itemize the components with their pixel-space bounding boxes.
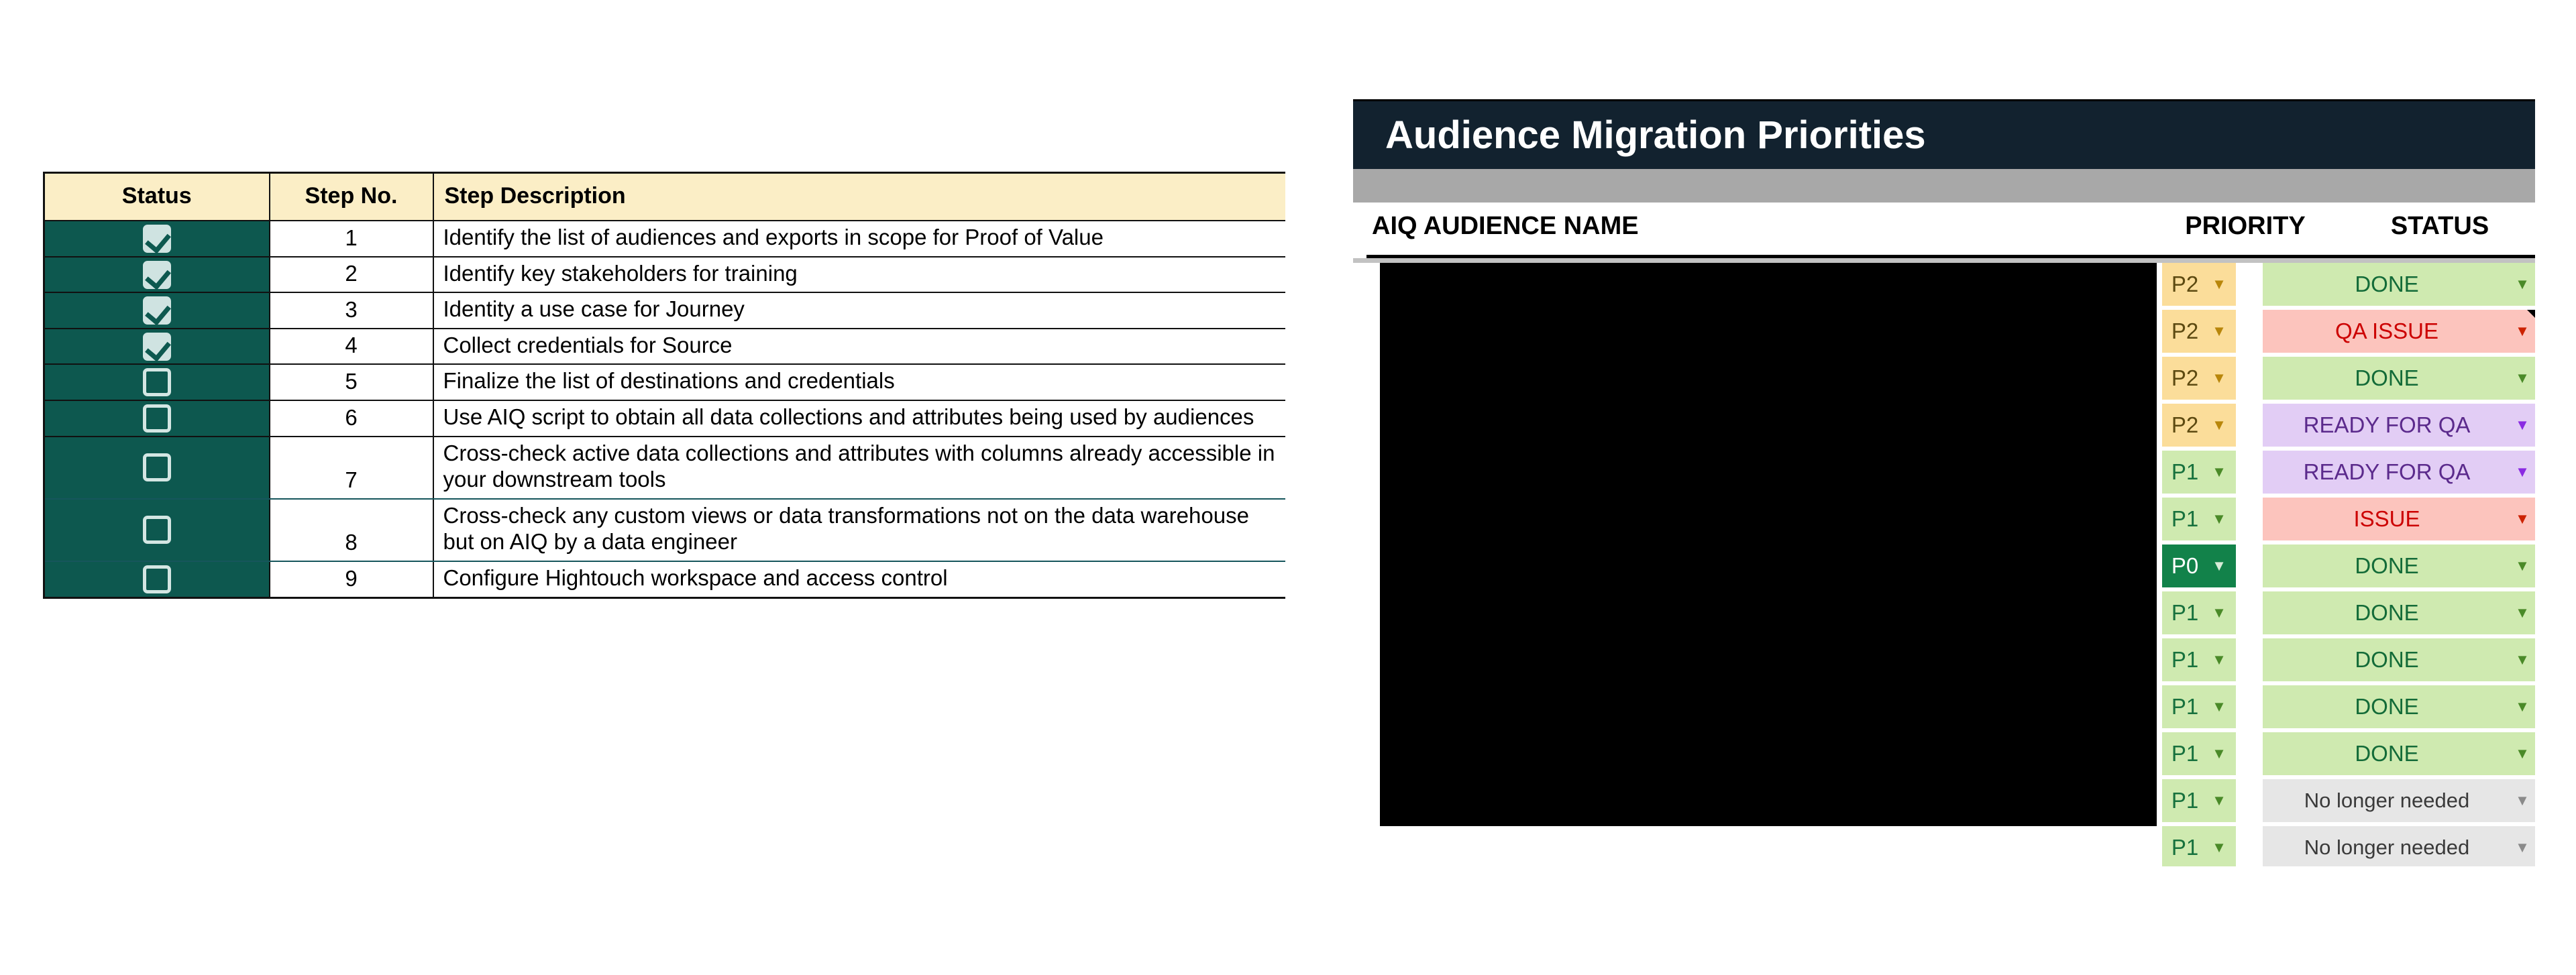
checklist-status-cell[interactable] (44, 499, 270, 561)
status-value: ISSUE (2263, 506, 2511, 532)
audience-name-redacted (1380, 826, 2157, 866)
status-dropdown-cell[interactable]: DONE (2263, 591, 2535, 634)
status-value: READY FOR QA (2263, 459, 2511, 485)
priority-dropdown-cell[interactable]: P2 (2162, 263, 2236, 306)
audience-name-redacted (1380, 591, 2157, 638)
audience-name-redacted (1380, 357, 2157, 404)
table-row: 4Collect credentials for Source (44, 329, 1286, 365)
chevron-down-icon[interactable] (2208, 324, 2231, 339)
migration-checklist-table: Status Step No. Step Description 1Identi… (43, 172, 1285, 599)
status-dropdown-cell[interactable]: READY FOR QA (2263, 451, 2535, 494)
priority-value: P1 (2162, 647, 2208, 673)
audience-name-redacted (1380, 544, 2157, 591)
chevron-down-icon[interactable] (2208, 699, 2231, 714)
chevron-down-icon[interactable] (2208, 277, 2231, 292)
checklist-status-cell[interactable] (44, 400, 270, 437)
checklist-header-row: Status Step No. Step Description (44, 173, 1286, 221)
status-value: No longer needed (2263, 789, 2511, 813)
checklist-step-description: Cross-check any custom views or data tra… (433, 499, 1286, 561)
column-header-status: Status (44, 173, 270, 221)
checklist-step-description: Identify key stakeholders for training (433, 257, 1286, 293)
checklist-status-cell[interactable] (44, 257, 270, 293)
checklist-step-number: 8 (270, 499, 433, 561)
checklist-step-number: 4 (270, 329, 433, 365)
cell-comment-marker-icon[interactable] (2527, 310, 2535, 322)
chevron-down-icon[interactable] (2511, 512, 2534, 526)
priority-value: P1 (2162, 506, 2208, 532)
checklist-step-number: 9 (270, 561, 433, 597)
checkbox-unchecked-icon[interactable] (143, 516, 171, 544)
status-value: DONE (2263, 272, 2511, 297)
chevron-down-icon[interactable] (2208, 606, 2231, 620)
status-value: DONE (2263, 600, 2511, 626)
checklist-status-cell[interactable] (44, 221, 270, 257)
checklist-step-description: Use AIQ script to obtain all data collec… (433, 400, 1286, 437)
priority-value: P2 (2162, 412, 2208, 438)
priority-dropdown-cell[interactable]: P0 (2162, 544, 2236, 587)
checklist-status-cell[interactable] (44, 437, 270, 499)
status-value: DONE (2263, 647, 2511, 673)
checkbox-unchecked-icon[interactable] (143, 368, 171, 396)
chevron-down-icon[interactable] (2208, 746, 2231, 761)
priority-table-row: P0DONE (1353, 544, 2535, 591)
checklist-step-description: Configure Hightouch workspace and access… (433, 561, 1286, 597)
checklist-step-number: 6 (270, 400, 433, 437)
status-dropdown-cell[interactable]: ISSUE (2263, 498, 2535, 540)
chevron-down-icon[interactable] (2208, 465, 2231, 479)
checklist-step-description: Cross-check active data collections and … (433, 437, 1286, 499)
chevron-down-icon[interactable] (2511, 840, 2534, 855)
status-value: READY FOR QA (2263, 412, 2511, 438)
chevron-down-icon[interactable] (2208, 512, 2231, 526)
priorities-column-header-row: AIQ AUDIENCE NAME PRIORITY STATUS (1353, 203, 2535, 255)
checkbox-checked-icon[interactable] (143, 261, 171, 289)
priority-table-row: P2READY FOR QA (1353, 404, 2535, 451)
chevron-down-icon[interactable] (2511, 746, 2534, 761)
priority-value: P1 (2162, 788, 2208, 813)
column-header-step-description: Step Description (433, 173, 1286, 221)
chevron-down-icon[interactable] (2511, 324, 2534, 339)
audience-name-redacted (1380, 310, 2157, 357)
status-dropdown-cell[interactable]: No longer needed (2263, 826, 2535, 866)
table-row: 9Configure Hightouch workspace and acces… (44, 561, 1286, 597)
priority-table-row: P2DONE (1353, 357, 2535, 404)
table-row: 1Identify the list of audiences and expo… (44, 221, 1286, 257)
audience-name-redacted (1380, 732, 2157, 779)
checkbox-checked-icon[interactable] (143, 296, 171, 325)
checklist-step-number: 2 (270, 257, 433, 293)
column-header-status: STATUS (2346, 212, 2534, 241)
chevron-down-icon[interactable] (2511, 465, 2534, 479)
column-header-priority: PRIORITY (2145, 212, 2346, 241)
priority-value: P1 (2162, 459, 2208, 485)
priority-value: P2 (2162, 319, 2208, 344)
checkbox-checked-icon[interactable] (143, 225, 171, 253)
checklist-status-cell[interactable] (44, 364, 270, 400)
priority-dropdown-cell[interactable]: P1 (2162, 732, 2236, 775)
chevron-down-icon[interactable] (2208, 793, 2231, 808)
checkbox-unchecked-icon[interactable] (143, 404, 171, 433)
priorities-grid: P2DONEP2QA ISSUEP2DONEP2READY FOR QAP1RE… (1353, 263, 2535, 866)
priority-table-row: P1No longer needed (1353, 779, 2535, 826)
audience-name-redacted (1380, 451, 2157, 498)
chevron-down-icon[interactable] (2511, 559, 2534, 573)
header-divider-gray (1353, 258, 2535, 263)
chevron-down-icon[interactable] (2511, 606, 2534, 620)
status-dropdown-cell[interactable]: DONE (2263, 263, 2535, 306)
status-value: QA ISSUE (2263, 319, 2511, 344)
status-value: DONE (2263, 741, 2511, 766)
audience-name-redacted (1380, 779, 2157, 826)
status-value: DONE (2263, 365, 2511, 391)
audience-migration-priorities-panel: Audience Migration Priorities AIQ AUDIEN… (1353, 99, 2535, 887)
audience-name-redacted (1380, 685, 2157, 732)
priority-dropdown-cell[interactable]: P1 (2162, 685, 2236, 728)
priority-table-row: P2DONE (1353, 263, 2535, 310)
status-dropdown-cell[interactable]: No longer needed (2263, 779, 2535, 822)
chevron-down-icon[interactable] (2208, 652, 2231, 667)
priority-dropdown-cell[interactable]: P2 (2162, 357, 2236, 400)
checklist-step-number: 7 (270, 437, 433, 499)
audience-name-redacted (1380, 263, 2157, 310)
chevron-down-icon[interactable] (2208, 371, 2231, 386)
priority-dropdown-cell[interactable]: P1 (2162, 498, 2236, 540)
checklist-step-description: Finalize the list of destinations and cr… (433, 364, 1286, 400)
column-header-step-no: Step No. (270, 173, 433, 221)
checkbox-unchecked-icon[interactable] (143, 565, 171, 593)
checklist-status-cell[interactable] (44, 561, 270, 597)
priority-value: P0 (2162, 553, 2208, 579)
priority-value: P2 (2162, 272, 2208, 297)
chevron-down-icon[interactable] (2511, 277, 2534, 292)
checklist-step-number: 5 (270, 364, 433, 400)
checklist-step-description: Collect credentials for Source (433, 329, 1286, 365)
chevron-down-icon[interactable] (2208, 840, 2231, 855)
priority-dropdown-cell[interactable]: P1 (2162, 591, 2236, 634)
priority-table-row: P2QA ISSUE (1353, 310, 2535, 357)
priority-table-row: P1DONE (1353, 732, 2535, 779)
status-dropdown-cell[interactable]: DONE (2263, 544, 2535, 587)
checklist-step-description: Identify the list of audiences and expor… (433, 221, 1286, 257)
status-value: No longer needed (2263, 836, 2511, 860)
checkbox-checked-icon[interactable] (143, 333, 171, 361)
table-row: 3Identity a use case for Journey (44, 292, 1286, 329)
chevron-down-icon[interactable] (2208, 559, 2231, 573)
chevron-down-icon[interactable] (2511, 699, 2534, 714)
priority-table-row: P1No longer needed (1353, 826, 2535, 866)
priorities-title-bar: Audience Migration Priorities (1353, 99, 2535, 169)
status-value: DONE (2263, 694, 2511, 720)
column-header-aiq-audience-name: AIQ AUDIENCE NAME (1372, 212, 1639, 241)
priority-dropdown-cell[interactable]: P1 (2162, 451, 2236, 494)
chevron-down-icon[interactable] (2511, 371, 2534, 386)
audience-name-redacted (1380, 404, 2157, 451)
status-dropdown-cell[interactable]: READY FOR QA (2263, 404, 2535, 447)
checklist-step-number: 3 (270, 292, 433, 329)
priority-value: P1 (2162, 741, 2208, 766)
status-dropdown-cell[interactable]: QA ISSUE (2263, 310, 2535, 353)
priority-dropdown-cell[interactable]: P2 (2162, 404, 2236, 447)
priority-table-row: P1READY FOR QA (1353, 451, 2535, 498)
table-row: 2Identify key stakeholders for training (44, 257, 1286, 293)
table-row: 7Cross-check active data collections and… (44, 437, 1286, 499)
priority-value: P1 (2162, 694, 2208, 720)
chevron-down-icon[interactable] (2208, 418, 2231, 433)
status-dropdown-cell[interactable]: DONE (2263, 357, 2535, 400)
priority-table-row: P1DONE (1353, 638, 2535, 685)
priority-value: P2 (2162, 365, 2208, 391)
priority-value: P1 (2162, 600, 2208, 626)
checklist-step-description: Identity a use case for Journey (433, 292, 1286, 329)
chevron-down-icon[interactable] (2511, 793, 2534, 808)
header-divider (1353, 255, 2535, 263)
table-row: 6Use AIQ script to obtain all data colle… (44, 400, 1286, 437)
table-row: 5Finalize the list of destinations and c… (44, 364, 1286, 400)
priority-dropdown-cell[interactable]: P2 (2162, 310, 2236, 353)
migration-checklist-panel: Status Step No. Step Description 1Identi… (43, 172, 1285, 873)
status-dropdown-cell[interactable]: DONE (2263, 732, 2535, 775)
priority-dropdown-cell[interactable]: P1 (2162, 826, 2236, 866)
priority-value: P1 (2162, 835, 2208, 860)
status-value: DONE (2263, 553, 2511, 579)
priority-dropdown-cell[interactable]: P1 (2162, 638, 2236, 681)
status-dropdown-cell[interactable]: DONE (2263, 685, 2535, 728)
audience-name-redacted (1380, 638, 2157, 685)
priorities-subheader-bar (1353, 169, 2535, 203)
priority-table-row: P1ISSUE (1353, 498, 2535, 544)
status-dropdown-cell[interactable]: DONE (2263, 638, 2535, 681)
chevron-down-icon[interactable] (2511, 652, 2534, 667)
table-row: 8Cross-check any custom views or data tr… (44, 499, 1286, 561)
checklist-status-cell[interactable] (44, 329, 270, 365)
priority-table-row: P1DONE (1353, 591, 2535, 638)
chevron-down-icon[interactable] (2511, 418, 2534, 433)
priority-table-row: P1DONE (1353, 685, 2535, 732)
checklist-status-cell[interactable] (44, 292, 270, 329)
page-title: Audience Migration Priorities (1385, 113, 1926, 158)
priority-dropdown-cell[interactable]: P1 (2162, 779, 2236, 822)
audience-name-redacted (1380, 498, 2157, 544)
checklist-step-number: 1 (270, 221, 433, 257)
checkbox-unchecked-icon[interactable] (143, 453, 171, 481)
